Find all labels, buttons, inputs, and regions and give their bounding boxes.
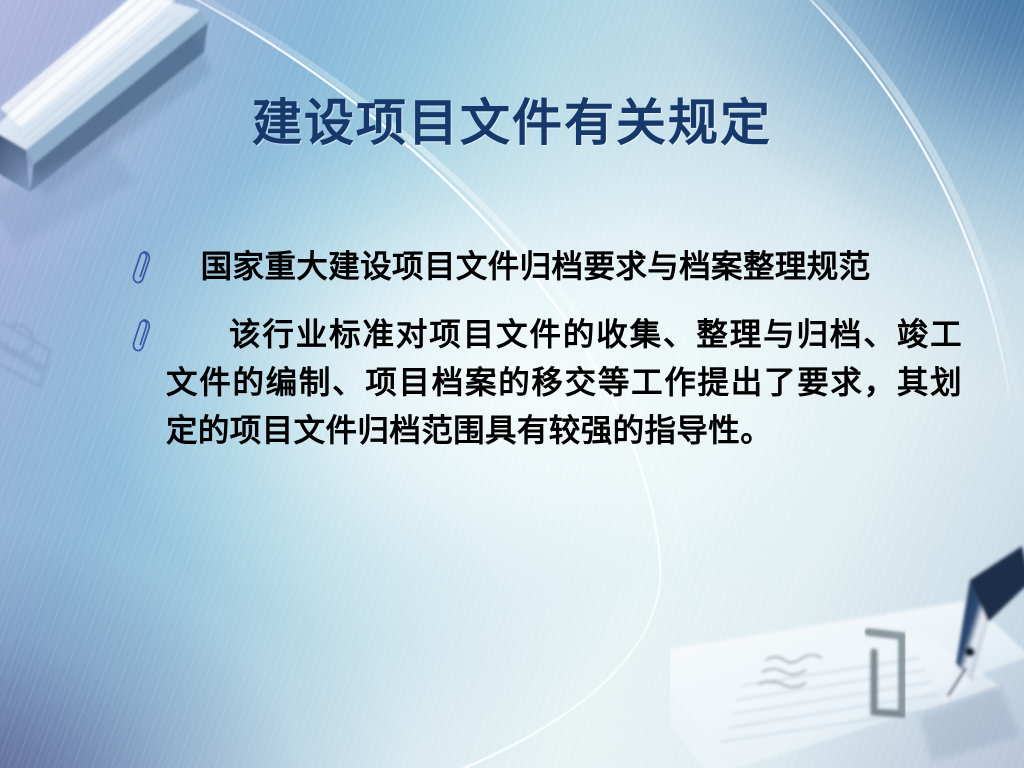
bullet-text: 该行业标准对项目文件的收集、整理与归档、竣工文件的编制、项目档案的移交等工作提出… — [166, 311, 962, 455]
list-item[interactable]: 国家重大建设项目文件归档要求与档案整理规范 — [118, 243, 962, 291]
paperclip-bullet-icon — [128, 315, 154, 355]
paperclip-bullet-icon — [128, 247, 154, 287]
slide-body-bullet-list: 国家重大建设项目文件归档要求与档案整理规范 该行业标准对项目文件的收集、整理与归… — [118, 243, 962, 475]
presentation-slide: 建设项目文件有关规定 国家重大建设项目文件归档要求与档案整理规范 该行业标准对项… — [0, 0, 1024, 768]
slide-title: 建设项目文件有关规定 — [0, 96, 1024, 150]
list-item[interactable]: 该行业标准对项目文件的收集、整理与归档、竣工文件的编制、项目档案的移交等工作提出… — [118, 311, 962, 455]
bullet-text: 国家重大建设项目文件归档要求与档案整理规范 — [166, 243, 962, 291]
